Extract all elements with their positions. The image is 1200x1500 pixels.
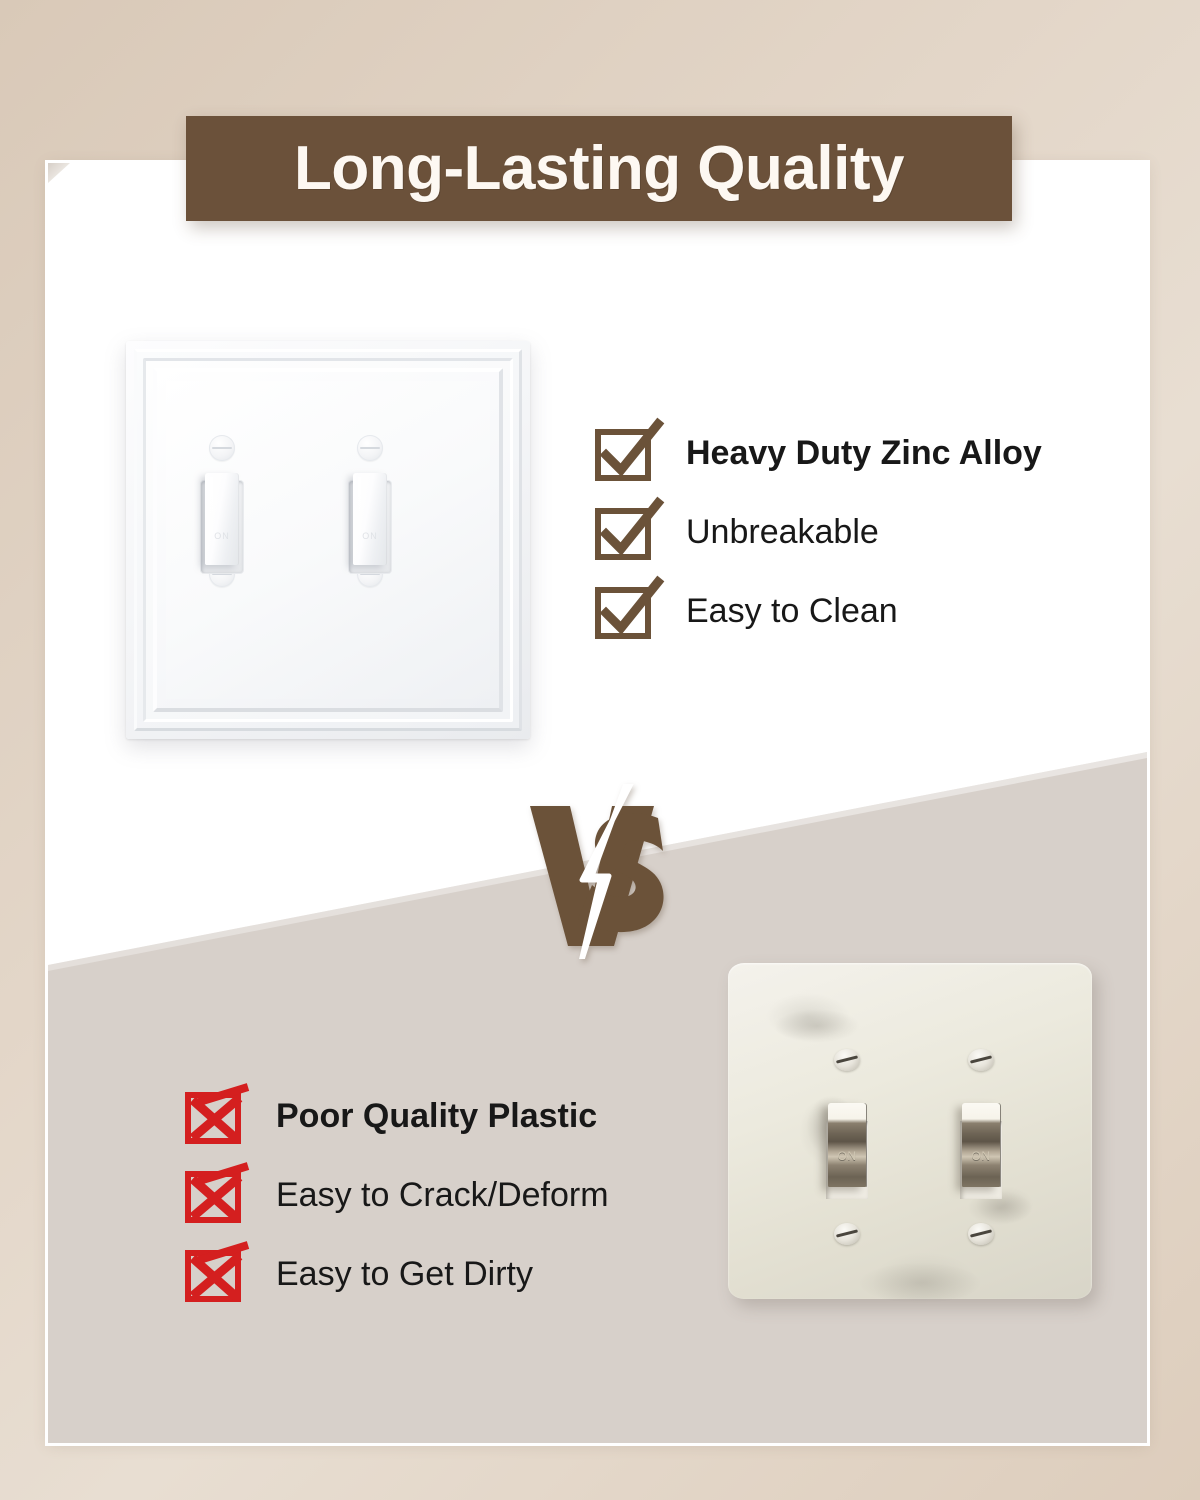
product-image-old-wall-plate: ON ON	[728, 963, 1092, 1299]
toggle-lever[interactable]: ON	[205, 473, 239, 565]
screw-icon	[968, 1049, 994, 1071]
toggle-lever[interactable]: ON	[962, 1103, 1000, 1187]
grime-smudge	[860, 1263, 980, 1303]
list-item-label: Poor Quality Plastic	[276, 1099, 597, 1133]
toggle-on-label: ON	[353, 531, 387, 541]
drawbacks-list: Poor Quality Plastic Easy to Crack/Defor…	[188, 1076, 609, 1313]
product-image-new-wall-plate: ON ON	[126, 341, 530, 739]
list-item-label: Easy to Get Dirty	[276, 1257, 533, 1291]
screw-icon	[357, 435, 383, 461]
toggle-on-label: ON	[962, 1149, 1000, 1163]
list-item-label: Unbreakable	[686, 515, 879, 549]
screw-icon	[834, 1223, 860, 1245]
versus-badge	[508, 784, 708, 959]
list-item: Easy to Get Dirty	[188, 1234, 609, 1313]
checkbox-check-icon	[598, 507, 648, 557]
screw-icon	[209, 435, 235, 461]
infographic-canvas: Long-Lasting Quality ON ON	[0, 0, 1200, 1500]
panel-corner-fold	[48, 163, 70, 183]
toggle-on-label: ON	[828, 1149, 866, 1163]
toggle-switch-left[interactable]: ON	[201, 481, 243, 573]
toggle-switch-left[interactable]: ON	[826, 1121, 868, 1199]
checkbox-x-icon	[188, 1170, 238, 1220]
grime-smudge	[774, 1009, 860, 1043]
checkbox-x-icon	[188, 1249, 238, 1299]
checkbox-x-icon	[188, 1091, 238, 1141]
list-item: Easy to Crack/Deform	[188, 1155, 609, 1234]
screw-icon	[834, 1049, 860, 1071]
plate-face: ON ON	[166, 381, 490, 699]
checkbox-check-icon	[598, 428, 648, 478]
checkbox-check-icon	[598, 586, 648, 636]
toggle-switch-right[interactable]: ON	[960, 1121, 1002, 1199]
screw-icon	[968, 1223, 994, 1245]
list-item: Poor Quality Plastic	[188, 1076, 609, 1155]
list-item-label: Heavy Duty Zinc Alloy	[686, 436, 1042, 470]
toggle-switch-right[interactable]: ON	[349, 481, 391, 573]
toggle-lever[interactable]: ON	[353, 473, 387, 565]
toggle-on-label: ON	[205, 531, 239, 541]
list-item-label: Easy to Clean	[686, 594, 898, 628]
list-item: Easy to Clean	[598, 571, 1042, 650]
list-item-label: Easy to Crack/Deform	[276, 1178, 609, 1212]
list-item: Heavy Duty Zinc Alloy	[598, 413, 1042, 492]
page-title: Long-Lasting Quality	[294, 138, 904, 200]
title-banner: Long-Lasting Quality	[186, 116, 1012, 221]
benefits-list: Heavy Duty Zinc Alloy Unbreakable Easy t…	[598, 413, 1042, 650]
toggle-lever[interactable]: ON	[828, 1103, 866, 1187]
list-item: Unbreakable	[598, 492, 1042, 571]
